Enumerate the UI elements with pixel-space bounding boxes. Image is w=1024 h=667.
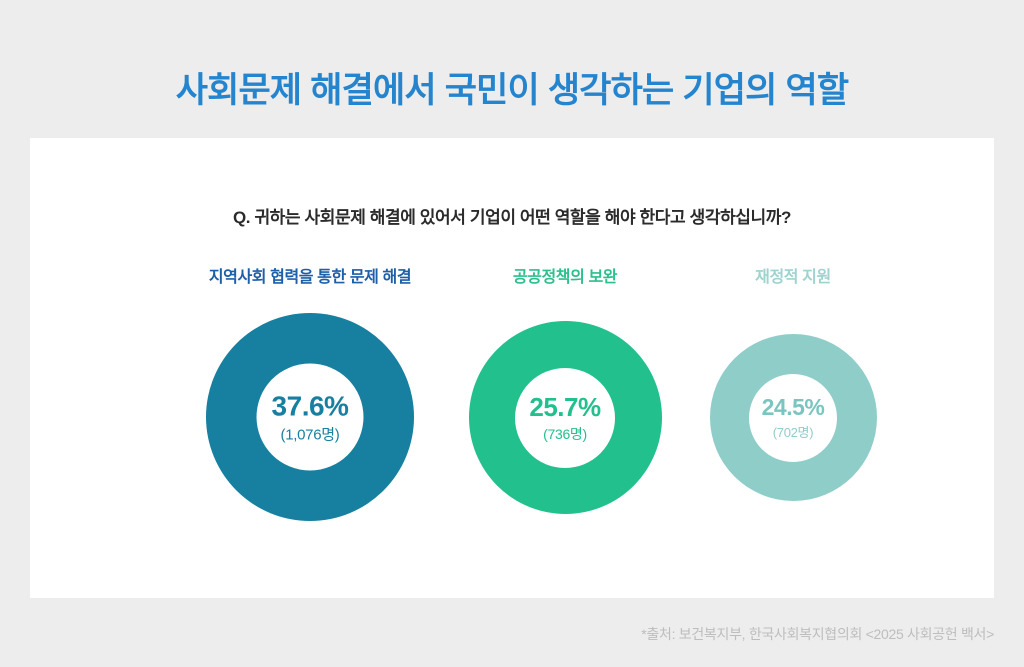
donut-count-1: (1,076명)	[281, 427, 340, 442]
donut-chart-3: 24.5% (702명)	[710, 334, 877, 501]
source-note: *출처: 보건복지부, 한국사회복지협의회 <2025 사회공헌 백서>	[641, 624, 994, 644]
donut-count-3: (702명)	[773, 426, 814, 439]
survey-question: Q. 귀하는 사회문제 해결에 있어서 기업이 어떤 역할을 해야 한다고 생각…	[30, 203, 994, 228]
donut-percent-1: 37.6%	[272, 392, 349, 420]
donut-chart-row: 지역사회 협력을 통한 문제 해결 37.6% (1,076명) 공공정책의 보…	[30, 268, 994, 568]
donut-item-1: 지역사회 협력을 통한 문제 해결 37.6% (1,076명)	[176, 268, 444, 521]
donut-label-1: 지역사회 협력을 통한 문제 해결	[176, 268, 444, 288]
donut-label-2: 공공정책의 보완	[444, 268, 686, 288]
donut-chart-2: 25.7% (736명)	[469, 321, 662, 514]
donut-label-3: 재정적 지원	[686, 268, 900, 288]
content-card: Q. 귀하는 사회문제 해결에 있어서 기업이 어떤 역할을 해야 한다고 생각…	[30, 138, 994, 598]
donut-percent-3: 24.5%	[762, 396, 825, 419]
donut-item-2: 공공정책의 보완 25.7% (736명)	[444, 268, 686, 514]
donut-percent-2: 25.7%	[529, 394, 600, 420]
donut-count-2: (736명)	[543, 427, 587, 441]
donut-chart-1: 37.6% (1,076명)	[206, 313, 414, 521]
donut-hole-1: 37.6% (1,076명)	[257, 364, 364, 471]
donut-item-3: 재정적 지원 24.5% (702명)	[686, 268, 900, 501]
page-title: 사회문제 해결에서 국민이 생각하는 기업의 역할	[0, 69, 1024, 113]
donut-hole-2: 25.7% (736명)	[515, 368, 615, 468]
donut-hole-3: 24.5% (702명)	[749, 374, 837, 462]
